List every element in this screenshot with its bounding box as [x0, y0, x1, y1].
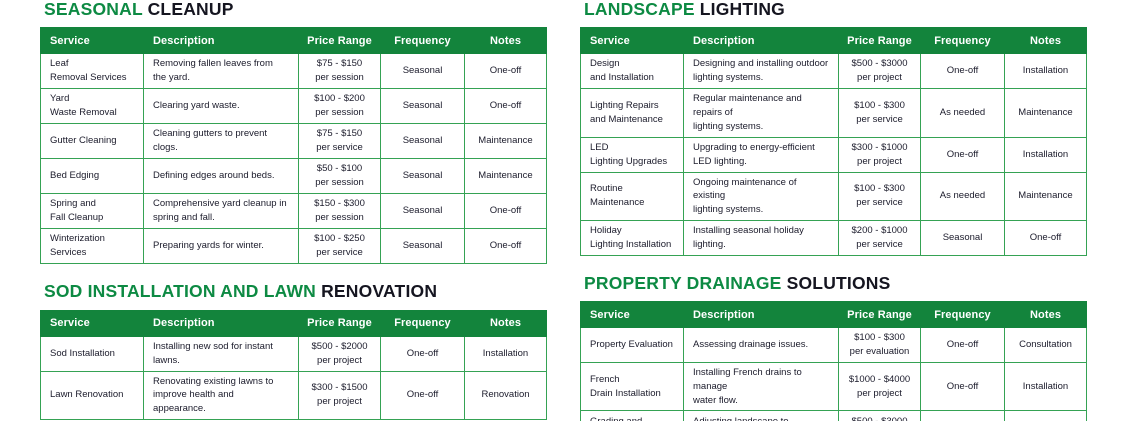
description-line-1: Preparing yards for winter. [153, 239, 289, 253]
cell-service: LEDLighting Upgrades [581, 137, 684, 172]
column-header-service: Service [581, 28, 684, 54]
price-unit: per evaluation [843, 345, 916, 359]
price-unit: per service [303, 141, 376, 155]
table-row: YardWaste RemovalClearing yard waste.$10… [41, 89, 547, 124]
section-heading: LANDSCAPE LIGHTING [584, 0, 1086, 19]
service-line-1: Holiday [590, 224, 674, 238]
table-row: Property EvaluationAssessing drainage is… [581, 328, 1087, 363]
cell-description: Ongoing maintenance of existinglighting … [684, 172, 839, 220]
cell-description: Removing fallen leaves fromthe yard. [144, 54, 299, 89]
cell-service: Lawn Renovation [41, 371, 144, 419]
description-line-1: Installing new sod for instant lawns. [153, 340, 289, 368]
section-heading-accent: LANDSCAPE [584, 0, 695, 19]
service-line-1: LED [590, 141, 674, 155]
price-amount: $50 - $100 [303, 162, 376, 176]
cell-service: HolidayLighting Installation [581, 220, 684, 255]
table-row: Bed EdgingDefining edges around beds.$50… [41, 159, 547, 194]
cell-description: Installing new sod for instant lawns. [144, 336, 299, 371]
table-row: RoutineMaintenanceOngoing maintenance of… [581, 172, 1087, 220]
price-amount: $150 - $300 [303, 197, 376, 211]
service-line-1: Sod Installation [50, 347, 134, 361]
service-line-2: and Maintenance [590, 113, 674, 127]
column-header-frequency: Frequency [921, 302, 1005, 328]
cell-price-range: $100 - $300per service [839, 172, 921, 220]
column-header-notes: Notes [1005, 28, 1087, 54]
cell-notes: Maintenance [465, 124, 547, 159]
price-unit: per project [843, 155, 916, 169]
section-heading-accent: PROPERTY DRAINAGE [584, 273, 782, 293]
table-row: Lighting Repairsand MaintenanceRegular m… [581, 89, 1087, 137]
price-unit: per session [303, 176, 376, 190]
service-line-2: Fall Cleanup [50, 211, 134, 225]
cell-service: RoutineMaintenance [581, 172, 684, 220]
cell-frequency: Seasonal [921, 220, 1005, 255]
service-line-2: Services [50, 246, 134, 260]
left-column: SEASONAL CLEANUPServiceDescriptionPrice … [40, 0, 546, 421]
section-heading: SOD INSTALLATION AND LAWN RENOVATION [44, 282, 546, 301]
price-amount: $500 - $3000 [843, 57, 916, 71]
cell-description: Preparing yards for winter. [144, 229, 299, 264]
description-line-2: spring and fall. [153, 211, 289, 225]
cell-notes: Consultation [1005, 328, 1087, 363]
price-amount: $100 - $300 [843, 331, 916, 345]
table-row: Designand InstallationDesigning and inst… [581, 54, 1087, 89]
column-header-price-range: Price Range [299, 28, 381, 54]
price-amount: $100 - $300 [843, 182, 916, 196]
price-amount: $100 - $250 [303, 232, 376, 246]
price-amount: $75 - $150 [303, 127, 376, 141]
services-table: ServiceDescriptionPrice RangeFrequencyNo… [580, 301, 1087, 421]
column-header-price-range: Price Range [299, 310, 381, 336]
services-pricing-page: SEASONAL CLEANUPServiceDescriptionPrice … [0, 0, 1124, 421]
table-row: HolidayLighting InstallationInstalling s… [581, 220, 1087, 255]
section-property-drainage-solutions: PROPERTY DRAINAGE SOLUTIONSServiceDescri… [580, 274, 1086, 421]
description-line-2: lighting systems. [693, 71, 829, 85]
cell-notes: Installation [1005, 411, 1087, 421]
cell-frequency: As needed [921, 89, 1005, 137]
price-unit: per project [843, 387, 916, 401]
description-line-1: Defining edges around beds. [153, 169, 289, 183]
column-header-notes: Notes [465, 310, 547, 336]
price-amount: $75 - $150 [303, 57, 376, 71]
cell-service: Spring andFall Cleanup [41, 194, 144, 229]
price-unit: per service [303, 246, 376, 260]
price-amount: $200 - $1000 [843, 224, 916, 238]
description-line-1: Renovating existing lawns to [153, 375, 289, 389]
table-header-row: ServiceDescriptionPrice RangeFrequencyNo… [581, 302, 1087, 328]
column-header-price-range: Price Range [839, 302, 921, 328]
cell-frequency: Seasonal [381, 54, 465, 89]
cell-service: Bed Edging [41, 159, 144, 194]
price-unit: per session [303, 106, 376, 120]
column-header-service: Service [41, 310, 144, 336]
column-header-service: Service [581, 302, 684, 328]
column-header-service: Service [41, 28, 144, 54]
cell-service: WinterizationServices [41, 229, 144, 264]
service-line-2: Waste Removal [50, 106, 134, 120]
cell-description: Upgrading to energy-efficientLED lightin… [684, 137, 839, 172]
column-header-notes: Notes [1005, 302, 1087, 328]
section-heading-tail: RENOVATION [321, 281, 437, 301]
price-amount: $100 - $300 [843, 99, 916, 113]
cell-description: Installing seasonal holiday lighting. [684, 220, 839, 255]
services-table: ServiceDescriptionPrice RangeFrequencyNo… [40, 27, 547, 264]
price-unit: per project [303, 354, 376, 368]
column-header-description: Description [684, 28, 839, 54]
table-row: Gutter CleaningCleaning gutters to preve… [41, 124, 547, 159]
cell-frequency: One-off [381, 371, 465, 419]
cell-frequency: Seasonal [381, 159, 465, 194]
cell-frequency: Seasonal [381, 229, 465, 264]
section-seasonal-cleanup: SEASONAL CLEANUPServiceDescriptionPrice … [40, 0, 546, 264]
services-table: ServiceDescriptionPrice RangeFrequencyNo… [40, 310, 547, 420]
cell-frequency: One-off [921, 54, 1005, 89]
price-amount: $1000 - $4000 [843, 373, 916, 387]
cell-price-range: $100 - $200per session [299, 89, 381, 124]
cell-service: Sod Installation [41, 336, 144, 371]
column-header-description: Description [144, 310, 299, 336]
cell-service: LeafRemoval Services [41, 54, 144, 89]
service-line-1: Lawn Renovation [50, 388, 134, 402]
description-line-1: Assessing drainage issues. [693, 338, 829, 352]
cell-notes: Renovation [465, 371, 547, 419]
cell-notes: Installation [465, 336, 547, 371]
cell-frequency: Seasonal [381, 194, 465, 229]
cell-price-range: $150 - $300per session [299, 194, 381, 229]
cell-description: Regular maintenance and repairs oflighti… [684, 89, 839, 137]
service-line-1: Yard [50, 92, 134, 106]
cell-notes: Installation [1005, 137, 1087, 172]
cell-price-range: $300 - $1000per project [839, 137, 921, 172]
service-line-1: Lighting Repairs [590, 99, 674, 113]
cell-frequency: As needed [921, 172, 1005, 220]
description-line-2: lighting systems. [693, 203, 829, 217]
section-heading-tail: SOLUTIONS [787, 273, 891, 293]
column-header-price-range: Price Range [839, 28, 921, 54]
table-header-row: ServiceDescriptionPrice RangeFrequencyNo… [581, 28, 1087, 54]
two-column-layout: SEASONAL CLEANUPServiceDescriptionPrice … [0, 0, 1124, 421]
cell-service: FrenchDrain Installation [581, 363, 684, 411]
cell-description: Renovating existing lawns toimprove heal… [144, 371, 299, 419]
service-line-2: Removal Services [50, 71, 134, 85]
cell-notes: One-off [465, 229, 547, 264]
cell-service: Grading andResloping [581, 411, 684, 421]
cell-description: Installing French drains to managewater … [684, 363, 839, 411]
cell-notes: One-off [1005, 220, 1087, 255]
description-line-2: lighting systems. [693, 120, 829, 134]
service-line-1: Winterization [50, 232, 134, 246]
cell-frequency: One-off [921, 137, 1005, 172]
table-header-row: ServiceDescriptionPrice RangeFrequencyNo… [41, 310, 547, 336]
cell-notes: One-off [465, 194, 547, 229]
description-line-2: improve health and appearance. [153, 388, 289, 416]
description-line-1: Ongoing maintenance of existing [693, 176, 829, 204]
description-line-1: Clearing yard waste. [153, 99, 289, 113]
cell-price-range: $500 - $3000per project [839, 54, 921, 89]
cell-frequency: One-off [921, 363, 1005, 411]
cell-service: Gutter Cleaning [41, 124, 144, 159]
cell-frequency: Seasonal [381, 89, 465, 124]
table-row: FrenchDrain InstallationInstalling Frenc… [581, 363, 1087, 411]
cell-price-range: $500 - $3000per project [839, 411, 921, 421]
table-row: WinterizationServicesPreparing yards for… [41, 229, 547, 264]
section-heading: PROPERTY DRAINAGE SOLUTIONS [584, 274, 1086, 293]
service-line-2: Lighting Upgrades [590, 155, 674, 169]
service-line-1: Spring and [50, 197, 134, 211]
service-line-1: Property Evaluation [590, 338, 674, 352]
cell-notes: One-off [465, 54, 547, 89]
cell-price-range: $100 - $250per service [299, 229, 381, 264]
description-line-1: Installing seasonal holiday lighting. [693, 224, 829, 252]
section-heading: SEASONAL CLEANUP [44, 0, 546, 19]
service-line-1: Bed Edging [50, 169, 134, 183]
service-line-1: Grading and [590, 415, 674, 421]
service-line-2: Maintenance [590, 196, 674, 210]
table-row: Sod InstallationInstalling new sod for i… [41, 336, 547, 371]
cell-notes: Installation [1005, 363, 1087, 411]
price-amount: $100 - $200 [303, 92, 376, 106]
cell-price-range: $75 - $150per session [299, 54, 381, 89]
price-unit: per project [843, 71, 916, 85]
column-header-frequency: Frequency [381, 28, 465, 54]
cell-frequency: One-off [921, 411, 1005, 421]
price-unit: per service [843, 113, 916, 127]
service-line-2: Lighting Installation [590, 238, 674, 252]
price-amount: $300 - $1000 [843, 141, 916, 155]
cell-price-range: $100 - $300per service [839, 89, 921, 137]
price-amount: $500 - $3000 [843, 415, 916, 421]
cell-price-range: $50 - $100per session [299, 159, 381, 194]
service-line-1: Gutter Cleaning [50, 134, 134, 148]
column-header-notes: Notes [465, 28, 547, 54]
service-line-2: Drain Installation [590, 387, 674, 401]
cell-description: Defining edges around beds. [144, 159, 299, 194]
column-header-description: Description [684, 302, 839, 328]
price-amount: $300 - $1500 [303, 381, 376, 395]
cell-description: Assessing drainage issues. [684, 328, 839, 363]
services-table: ServiceDescriptionPrice RangeFrequencyNo… [580, 27, 1087, 256]
cell-price-range: $300 - $1500per project [299, 371, 381, 419]
section-heading-accent: SOD INSTALLATION AND LAWN [44, 281, 316, 301]
section-heading-tail: CLEANUP [148, 0, 234, 19]
description-line-1: Removing fallen leaves from [153, 57, 289, 71]
price-unit: per project [303, 395, 376, 409]
description-line-1: Adjusting landscape to [693, 415, 829, 421]
table-row: LeafRemoval ServicesRemoving fallen leav… [41, 54, 547, 89]
description-line-1: Upgrading to energy-efficient [693, 141, 829, 155]
cell-service: Property Evaluation [581, 328, 684, 363]
cell-notes: Maintenance [465, 159, 547, 194]
section-heading-accent: SEASONAL [44, 0, 143, 19]
cell-service: YardWaste Removal [41, 89, 144, 124]
description-line-2: the yard. [153, 71, 289, 85]
description-line-1: Regular maintenance and repairs of [693, 92, 829, 120]
section-landscape-lighting: LANDSCAPE LIGHTINGServiceDescriptionPric… [580, 0, 1086, 256]
cell-description: Comprehensive yard cleanup inspring and … [144, 194, 299, 229]
cell-notes: Installation [1005, 54, 1087, 89]
cell-notes: Maintenance [1005, 172, 1087, 220]
section-heading-tail: LIGHTING [700, 0, 785, 19]
cell-price-range: $100 - $300per evaluation [839, 328, 921, 363]
column-header-description: Description [144, 28, 299, 54]
table-header-row: ServiceDescriptionPrice RangeFrequencyNo… [41, 28, 547, 54]
price-unit: per service [843, 238, 916, 252]
description-line-1: Cleaning gutters to prevent clogs. [153, 127, 289, 155]
cell-notes: Maintenance [1005, 89, 1087, 137]
table-row: Spring andFall CleanupComprehensive yard… [41, 194, 547, 229]
description-line-1: Designing and installing outdoor [693, 57, 829, 71]
cell-service: Lighting Repairsand Maintenance [581, 89, 684, 137]
cell-description: Designing and installing outdoorlighting… [684, 54, 839, 89]
cell-price-range: $75 - $150per service [299, 124, 381, 159]
service-line-1: French [590, 373, 674, 387]
section-sod-installation-and-lawn-renovation: SOD INSTALLATION AND LAWN RENOVATIONServ… [40, 282, 546, 420]
right-column: LANDSCAPE LIGHTINGServiceDescriptionPric… [580, 0, 1086, 421]
description-line-2: water flow. [693, 394, 829, 408]
cell-notes: One-off [465, 89, 547, 124]
description-line-1: Comprehensive yard cleanup in [153, 197, 289, 211]
cell-price-range: $200 - $1000per service [839, 220, 921, 255]
column-header-frequency: Frequency [921, 28, 1005, 54]
table-row: LEDLighting UpgradesUpgrading to energy-… [581, 137, 1087, 172]
table-row: Lawn RenovationRenovating existing lawns… [41, 371, 547, 419]
price-unit: per session [303, 71, 376, 85]
cell-frequency: One-off [921, 328, 1005, 363]
service-line-1: Design [590, 57, 674, 71]
cell-frequency: One-off [381, 336, 465, 371]
cell-price-range: $500 - $2000per project [299, 336, 381, 371]
description-line-2: LED lighting. [693, 155, 829, 169]
table-row: Grading andReslopingAdjusting landscape … [581, 411, 1087, 421]
cell-service: Designand Installation [581, 54, 684, 89]
description-line-1: Installing French drains to manage [693, 366, 829, 394]
service-line-1: Leaf [50, 57, 134, 71]
cell-frequency: Seasonal [381, 124, 465, 159]
column-header-frequency: Frequency [381, 310, 465, 336]
cell-description: Cleaning gutters to prevent clogs. [144, 124, 299, 159]
cell-price-range: $1000 - $4000per project [839, 363, 921, 411]
price-unit: per session [303, 211, 376, 225]
cell-description: Clearing yard waste. [144, 89, 299, 124]
price-amount: $500 - $2000 [303, 340, 376, 354]
service-line-1: Routine [590, 182, 674, 196]
cell-description: Adjusting landscape toimprove drainage. [684, 411, 839, 421]
price-unit: per service [843, 196, 916, 210]
service-line-2: and Installation [590, 71, 674, 85]
